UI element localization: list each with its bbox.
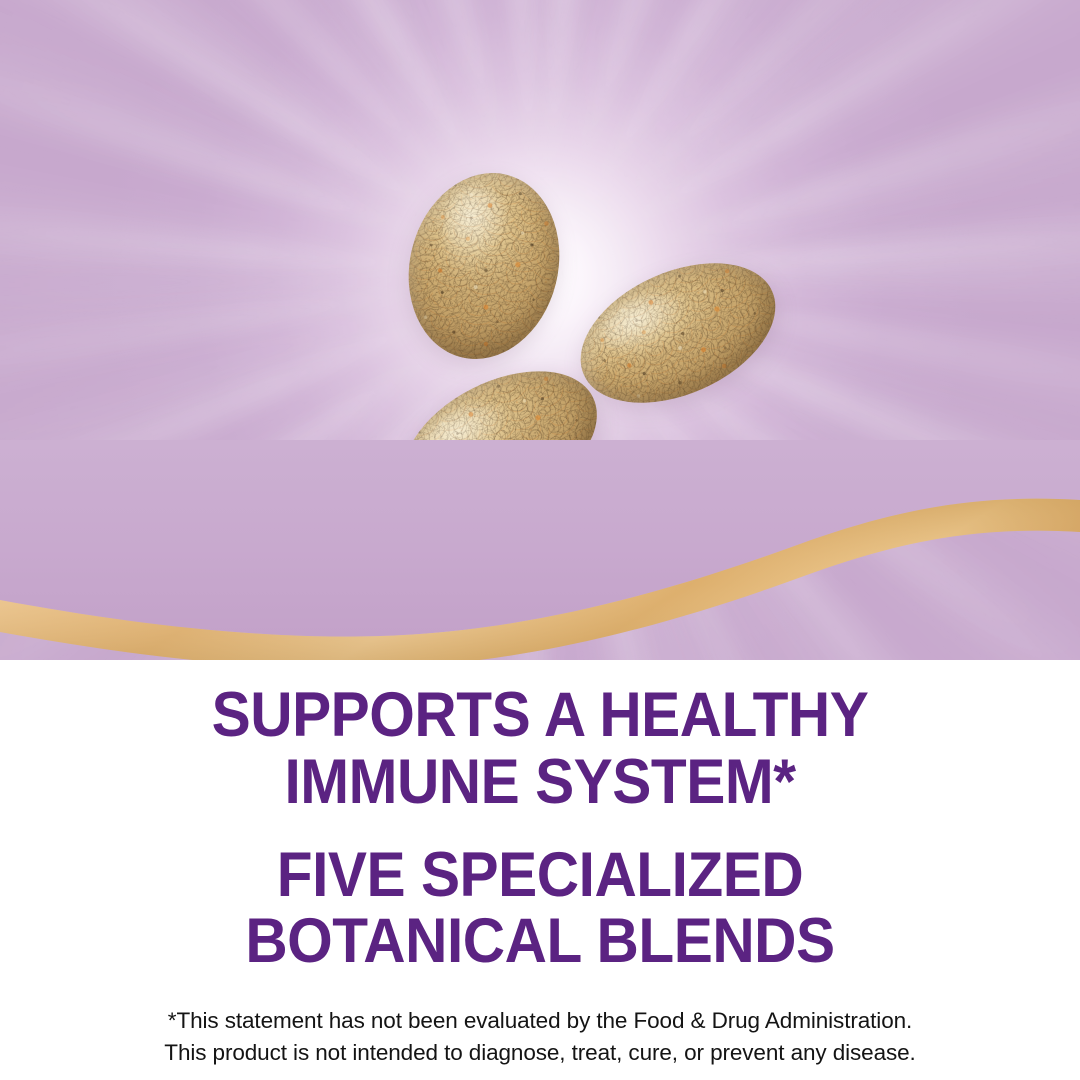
- headline-immune-support: SUPPORTS A HEALTHY IMMUNE SYSTEM*: [0, 660, 1080, 816]
- headline-2-line-1: FIVE SPECIALIZED: [38, 842, 1042, 909]
- disclaimer-line-1: *This statement has not been evaluated b…: [0, 1005, 1080, 1037]
- headline-1-line-2: IMMUNE SYSTEM*: [38, 749, 1042, 816]
- headline-botanical-blends: FIVE SPECIALIZED BOTANICAL BLENDS: [0, 816, 1080, 976]
- marketing-content-panel: SUPPORTS A HEALTHY IMMUNE SYSTEM* FIVE S…: [0, 660, 1080, 1080]
- product-hero-burst: [0, 0, 1080, 660]
- headline-1-line-1: SUPPORTS A HEALTHY: [38, 682, 1042, 749]
- disclaimer-line-2: This product is not intended to diagnose…: [0, 1037, 1080, 1069]
- fda-disclaimer: *This statement has not been evaluated b…: [0, 1005, 1080, 1069]
- headline-2-line-2: BOTANICAL BLENDS: [38, 908, 1042, 975]
- gold-wave-divider: [0, 440, 1080, 660]
